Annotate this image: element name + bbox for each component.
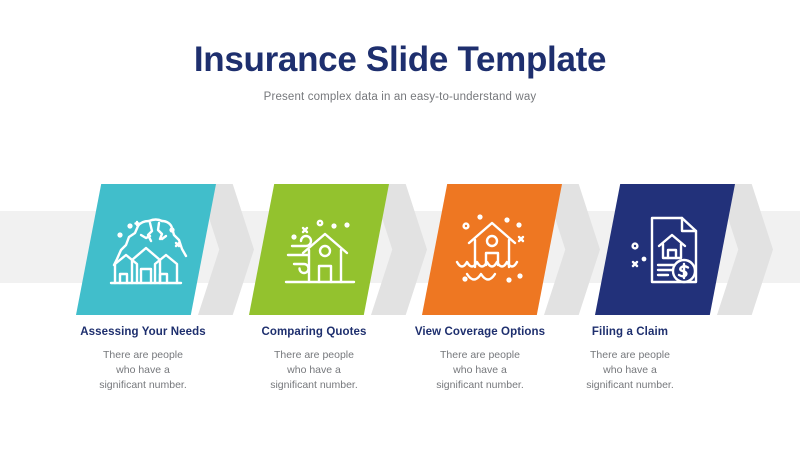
slide-subtitle: Present complex data in an easy-to-under… <box>0 91 800 103</box>
page-title: Insurance Slide Template <box>0 42 800 79</box>
step-panel-comparing-quotes[interactable] <box>249 170 431 315</box>
caption-filing-a-claim: Filing a Claim There are people who have… <box>545 326 715 393</box>
caption-body-assessing-your-needs: There are people who have a significant … <box>58 348 228 394</box>
caption-body-filing-a-claim: There are people who have a significant … <box>545 348 715 394</box>
windstorm-house-icon <box>276 210 362 290</box>
caption-title-comparing-quotes: Comparing Quotes <box>229 326 399 340</box>
slide-header: Insurance Slide Template Present complex… <box>0 42 800 103</box>
volcano-houses-icon <box>103 210 189 290</box>
step-tile-assessing-your-needs[interactable] <box>76 184 216 315</box>
captions-row: Assessing Your Needs There are people wh… <box>0 326 800 436</box>
caption-body-comparing-quotes: There are people who have a significant … <box>229 348 399 394</box>
caption-body-line-2: who have a <box>229 363 399 378</box>
caption-body-line-1: There are people <box>229 348 399 363</box>
step-tile-view-coverage-options[interactable] <box>422 184 562 315</box>
caption-title-assessing-your-needs: Assessing Your Needs <box>58 326 228 340</box>
caption-body-line-3: significant number. <box>58 378 228 393</box>
caption-assessing-your-needs: Assessing Your Needs There are people wh… <box>58 326 228 393</box>
caption-body-line-1: There are people <box>545 348 715 363</box>
caption-body-line-2: who have a <box>58 363 228 378</box>
step-panel-view-coverage-options[interactable] <box>422 170 604 315</box>
policy-document-house-dollar-icon <box>622 210 708 290</box>
caption-body-line-3: significant number. <box>545 378 715 393</box>
caption-comparing-quotes: Comparing Quotes There are people who ha… <box>229 326 399 393</box>
caption-body-line-3: significant number. <box>229 378 399 393</box>
step-tile-comparing-quotes[interactable] <box>249 184 389 315</box>
step-panel-filing-a-claim[interactable] <box>595 170 777 315</box>
flood-house-icon <box>449 210 535 290</box>
step-panel-assessing-your-needs[interactable] <box>76 170 258 315</box>
steps-row <box>0 170 800 325</box>
step-tile-filing-a-claim[interactable] <box>595 184 735 315</box>
caption-title-filing-a-claim: Filing a Claim <box>545 326 715 340</box>
caption-body-line-2: who have a <box>545 363 715 378</box>
caption-body-line-1: There are people <box>58 348 228 363</box>
slide-canvas: Insurance Slide Template Present complex… <box>0 0 800 450</box>
